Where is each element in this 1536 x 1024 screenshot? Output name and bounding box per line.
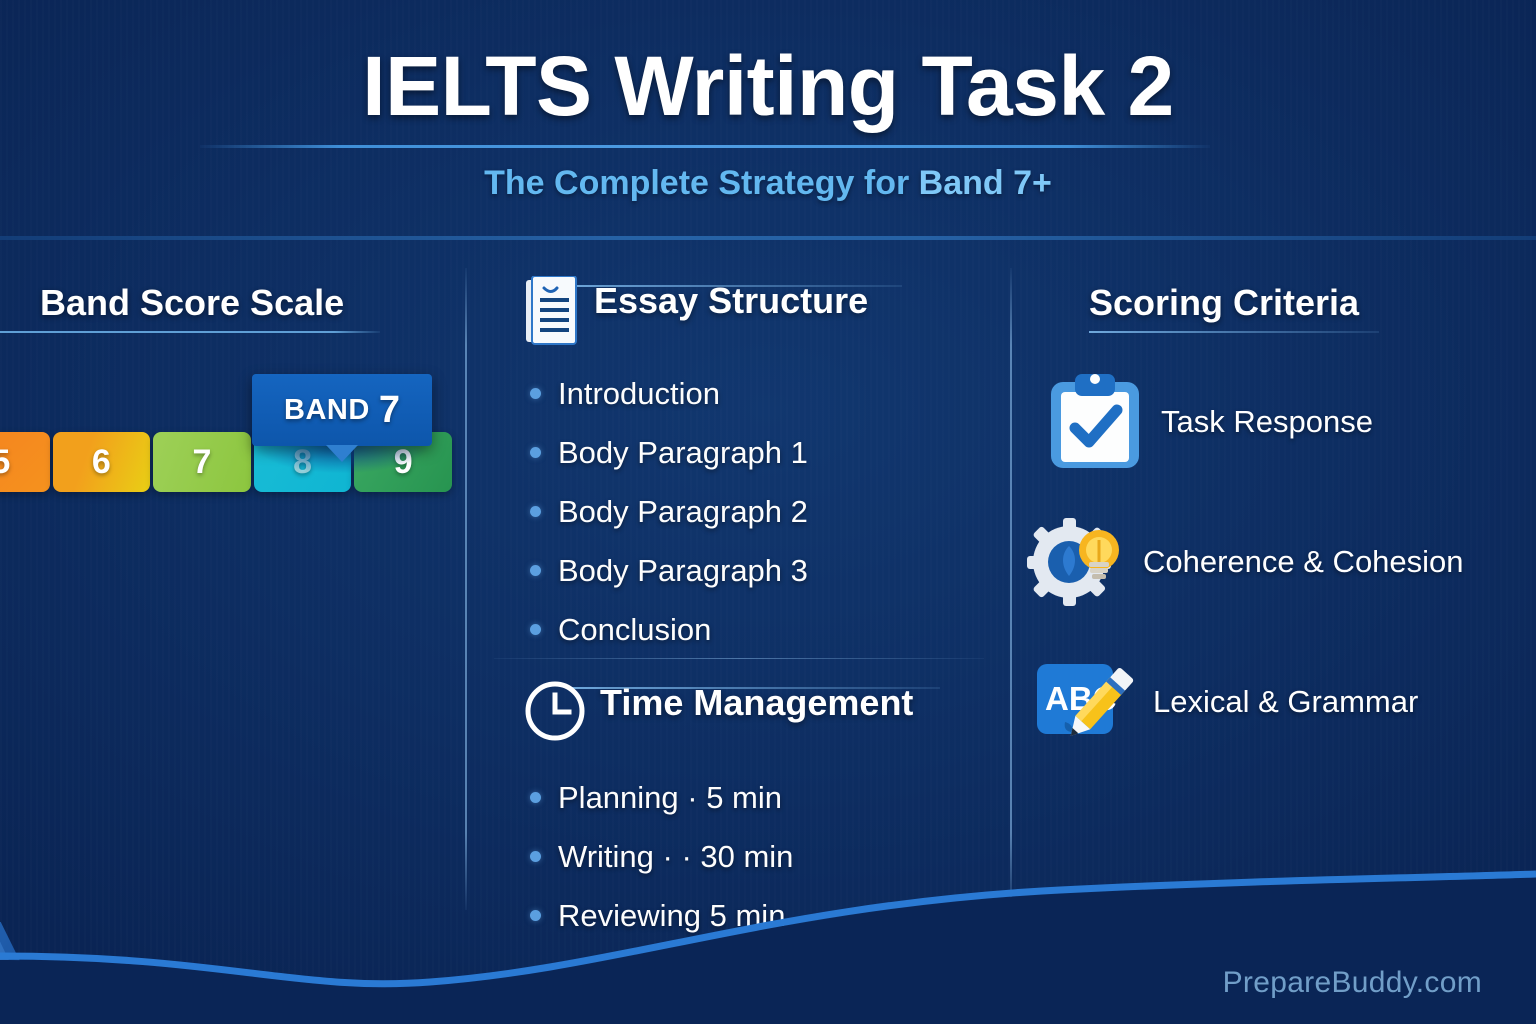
clock-icon xyxy=(524,680,586,742)
document-icon xyxy=(526,276,584,348)
band-segment-6[interactable]: 6 xyxy=(53,432,151,492)
band-segment-label: 9 xyxy=(394,443,413,482)
band-segment-label: 8 xyxy=(293,443,312,482)
bullet-icon xyxy=(530,792,541,803)
list-item[interactable]: Body Paragraph 1 xyxy=(530,423,808,482)
infographic-canvas: IELTS Writing Task 2 The Complete Strate… xyxy=(0,0,1536,1024)
band-segment-label: 7 xyxy=(193,443,212,482)
bullet-icon xyxy=(530,506,541,517)
bullet-icon xyxy=(530,447,541,458)
band-score-heading-rule xyxy=(0,331,380,333)
criteria-label: Task Response xyxy=(1161,404,1373,440)
bullet-icon xyxy=(530,565,541,576)
band-score-heading-group: Band Score Scale xyxy=(40,282,380,333)
bullet-icon xyxy=(530,624,541,635)
band-segment-5[interactable]: 5 xyxy=(0,432,50,492)
list-item-label: Body Paragraph 1 xyxy=(558,435,808,471)
bullet-icon xyxy=(530,851,541,862)
header: IELTS Writing Task 2 The Complete Strate… xyxy=(0,0,1536,238)
essay-structure-heading: Essay Structure xyxy=(594,280,868,322)
band-score-section: Band Score Scale 5 6 7 8 9 BAND 7 xyxy=(0,282,465,910)
list-item[interactable]: Body Paragraph 2 xyxy=(530,482,808,541)
subtitle-text: The Complete Strategy for xyxy=(484,164,919,202)
band-segment-label: 5 xyxy=(0,443,10,482)
list-item-label: Conclusion xyxy=(558,612,711,648)
list-item[interactable]: Conclusion xyxy=(530,600,808,659)
clipboard-check-icon xyxy=(1043,370,1147,474)
page-title: IELTS Writing Task 2 xyxy=(0,38,1536,135)
list-item-label: Body Paragraph 2 xyxy=(558,494,808,530)
list-item-label: Introduction xyxy=(558,376,720,412)
band-badge-pointer-icon xyxy=(326,445,358,462)
scoring-criteria-section: Scoring Criteria Task Response xyxy=(1011,282,1536,910)
essay-structure-section: Essay Structure Introduction Body Paragr… xyxy=(466,278,1010,918)
time-management-heading-group: Time Management xyxy=(496,680,940,689)
section-divider xyxy=(494,658,984,659)
list-item[interactable]: Introduction xyxy=(530,364,808,423)
criteria-item-lexical-grammar[interactable]: ABC Lexical & Grammar xyxy=(1035,650,1418,754)
scoring-criteria-heading: Scoring Criteria xyxy=(1089,282,1379,324)
criteria-item-task-response[interactable]: Task Response xyxy=(1043,370,1373,474)
band-badge-value: 7 xyxy=(379,389,400,432)
header-separator xyxy=(0,236,1536,240)
criteria-label: Coherence & Cohesion xyxy=(1143,544,1464,580)
footer-brand: PrepareBuddy.com xyxy=(1223,966,1482,1000)
band-segment-label: 6 xyxy=(92,443,111,482)
scoring-criteria-heading-rule xyxy=(1089,331,1379,333)
page-subtitle: The Complete Strategy for Band 7+ xyxy=(0,164,1536,203)
criteria-label: Lexical & Grammar xyxy=(1153,684,1418,720)
band-score-heading: Band Score Scale xyxy=(40,282,380,324)
list-item-label: Planning · 5 min xyxy=(558,780,782,816)
gear-lightbulb-icon xyxy=(1025,510,1129,614)
list-item[interactable]: Planning · 5 min xyxy=(530,768,793,827)
band-badge-label: BAND xyxy=(284,394,370,427)
abc-pencil-icon: ABC xyxy=(1035,650,1139,754)
list-item-label: Body Paragraph 3 xyxy=(558,553,808,589)
band-badge[interactable]: BAND 7 xyxy=(252,374,432,446)
criteria-item-coherence-cohesion[interactable]: Coherence & Cohesion xyxy=(1025,510,1464,614)
list-item[interactable]: Body Paragraph 3 xyxy=(530,541,808,600)
scoring-criteria-heading-group: Scoring Criteria xyxy=(1089,282,1379,333)
title-divider xyxy=(200,145,1210,148)
time-management-heading: Time Management xyxy=(600,682,913,724)
bottom-wave-decoration xyxy=(0,864,1536,1024)
subtitle-highlight: Band 7+ xyxy=(919,164,1052,202)
essay-structure-heading-group: Essay Structure xyxy=(496,278,902,287)
band-segment-7[interactable]: 7 xyxy=(153,432,251,492)
bullet-icon xyxy=(530,388,541,399)
essay-structure-list: Introduction Body Paragraph 1 Body Parag… xyxy=(530,364,808,659)
